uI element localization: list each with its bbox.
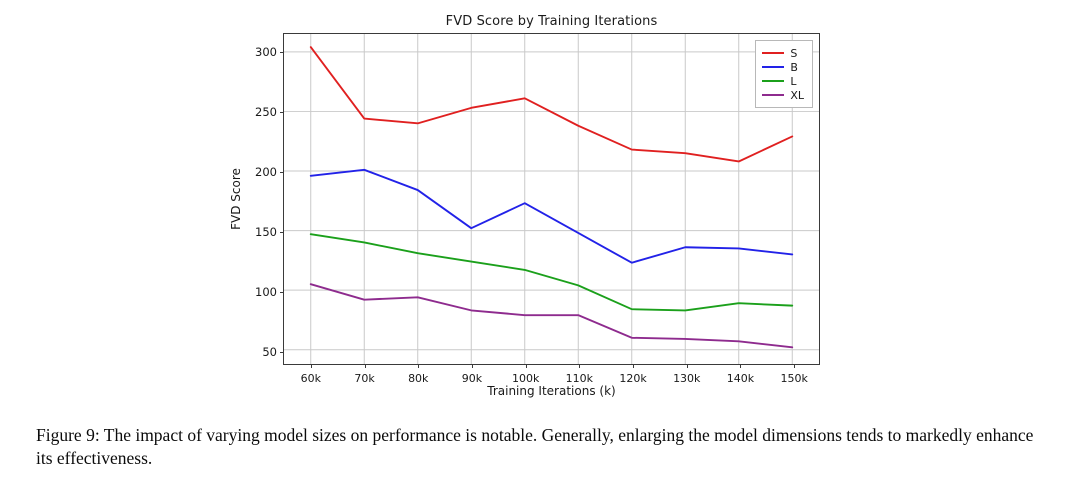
- chart-legend[interactable]: SBLXL: [755, 40, 813, 108]
- legend-item-b[interactable]: B: [762, 60, 804, 74]
- y-axis-label: FVD Score: [229, 168, 243, 230]
- y-tick-mark: [280, 352, 284, 353]
- x-tick-mark: [579, 364, 580, 368]
- x-tick-mark: [472, 364, 473, 368]
- y-tick-label: 100: [255, 285, 277, 299]
- y-tick-label: 50: [262, 345, 277, 359]
- y-tick-label: 300: [255, 45, 277, 59]
- legend-item-xl[interactable]: XL: [762, 88, 804, 102]
- legend-item-l[interactable]: L: [762, 74, 804, 88]
- figure-9: FVD Score by Training Iterations FVD Sco…: [0, 0, 1080, 410]
- y-tick-mark: [280, 172, 284, 173]
- x-tick-mark: [633, 364, 634, 368]
- x-axis-label: Training Iterations (k): [283, 384, 820, 398]
- y-tick-label: 250: [255, 105, 277, 119]
- y-tick-mark: [280, 52, 284, 53]
- legend-label: XL: [790, 90, 804, 101]
- series-line-b: [311, 170, 793, 263]
- x-tick-mark: [418, 364, 419, 368]
- y-tick-mark: [280, 112, 284, 113]
- series-lines: [284, 34, 819, 364]
- x-tick-mark: [687, 364, 688, 368]
- caption-text: The impact of varying model sizes on per…: [36, 425, 1033, 468]
- y-tick-label: 200: [255, 165, 277, 179]
- caption-label: Figure 9:: [36, 425, 100, 445]
- legend-label: L: [790, 76, 796, 87]
- legend-swatch-icon: [762, 80, 784, 82]
- plot-area: 5010015020025030060k70k80k90k100k110k120…: [283, 33, 820, 365]
- legend-label: S: [790, 48, 797, 59]
- figure-caption: Figure 9: The impact of varying model si…: [36, 424, 1048, 471]
- x-tick-mark: [311, 364, 312, 368]
- y-tick-mark: [280, 232, 284, 233]
- legend-swatch-icon: [762, 52, 784, 54]
- y-tick-mark: [280, 292, 284, 293]
- y-tick-label: 150: [255, 225, 277, 239]
- legend-swatch-icon: [762, 66, 784, 68]
- series-line-xl: [311, 284, 793, 347]
- legend-item-s[interactable]: S: [762, 46, 804, 60]
- legend-label: B: [790, 62, 798, 73]
- series-line-s: [311, 47, 793, 161]
- legend-swatch-icon: [762, 94, 784, 96]
- chart-title: FVD Score by Training Iterations: [283, 14, 820, 29]
- x-tick-mark: [740, 364, 741, 368]
- x-tick-mark: [526, 364, 527, 368]
- x-tick-mark: [794, 364, 795, 368]
- x-tick-mark: [365, 364, 366, 368]
